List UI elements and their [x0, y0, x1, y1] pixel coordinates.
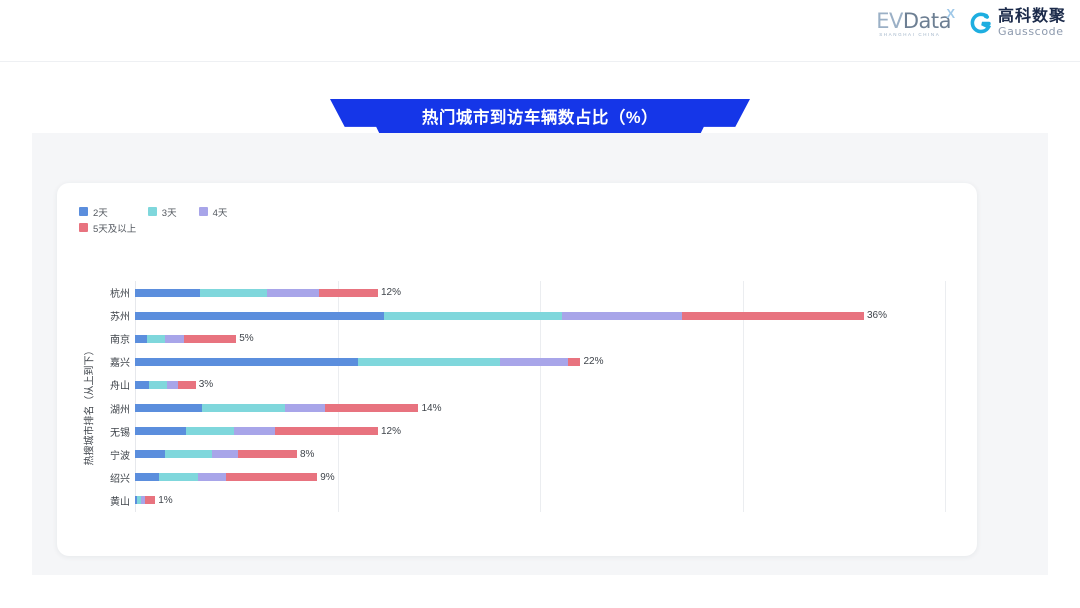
bar-value-label: 22%	[583, 356, 603, 367]
legend-label-2days: 2天	[93, 205, 108, 219]
stacked-bar-黄山[interactable]	[135, 496, 155, 504]
bar-segment-2天[interactable]	[135, 450, 165, 458]
bar-segment-3天[interactable]	[358, 358, 500, 366]
bar-row[interactable]: 22%	[135, 350, 604, 373]
y-axis-tick-labels: 杭州苏州南京嘉兴舟山湖州无锡宁波绍兴黄山	[96, 281, 130, 512]
chart-legend: 2天 3天 4天 5天及以上	[79, 205, 499, 234]
y-axis-label-黄山: 黄山	[110, 489, 130, 512]
legend-row-2: 5天及以上	[79, 221, 499, 234]
stacked-bar-南京[interactable]	[135, 335, 236, 343]
stacked-bar-绍兴[interactable]	[135, 473, 317, 481]
bar-segment-4天[interactable]	[212, 450, 238, 458]
bar-segment-3天[interactable]	[159, 473, 197, 481]
evdata-wordmark-data: Data	[903, 9, 951, 33]
plot-area: 12%36%5%22%3%14%12%8%9%1%	[135, 281, 945, 512]
bar-segment-5天及以上[interactable]	[325, 404, 418, 412]
bar-segment-2天[interactable]	[135, 335, 147, 343]
bar-segment-2天[interactable]	[135, 473, 159, 481]
evdata-subtitle: SHANGHAI CHINA	[876, 32, 951, 37]
bar-value-label: 36%	[867, 310, 887, 321]
legend-item-2days[interactable]: 2天	[79, 205, 108, 219]
stacked-bar-宁波[interactable]	[135, 450, 297, 458]
y-axis-label-苏州: 苏州	[110, 304, 130, 327]
bar-row[interactable]: 12%	[135, 281, 401, 304]
bar-segment-3天[interactable]	[384, 312, 562, 320]
bar-segment-3天[interactable]	[186, 427, 235, 435]
y-axis-label-杭州: 杭州	[110, 281, 130, 304]
legend-item-5days-plus[interactable]: 5天及以上	[79, 221, 136, 235]
bar-value-label: 9%	[320, 472, 334, 483]
bar-value-label: 12%	[381, 426, 401, 437]
evdata-superscript-x: X	[946, 6, 955, 21]
legend-row-1: 2天 3天 4天	[79, 205, 499, 218]
legend-swatch-2days	[79, 207, 88, 216]
bar-segment-2天[interactable]	[135, 358, 358, 366]
y-axis-label-宁波: 宁波	[110, 443, 130, 466]
bar-segment-4天[interactable]	[267, 289, 320, 297]
legend-item-3days[interactable]: 3天	[148, 205, 177, 219]
bar-row[interactable]: 3%	[135, 373, 213, 396]
logo-row: EVData X SHANGHAI CHINA 高科数聚 Gausscode	[876, 9, 1066, 37]
bar-segment-3天[interactable]	[147, 335, 165, 343]
legend-swatch-3days	[148, 207, 157, 216]
bar-row[interactable]: 5%	[135, 327, 254, 350]
y-axis-title-text: 热搜城市排名（从上到下）	[81, 345, 96, 465]
legend-label-5days-plus: 5天及以上	[93, 221, 136, 235]
stacked-bar-舟山[interactable]	[135, 381, 196, 389]
bar-segment-5天及以上[interactable]	[319, 289, 378, 297]
stacked-bar-苏州[interactable]	[135, 312, 864, 320]
bar-row[interactable]: 14%	[135, 397, 441, 420]
y-axis-label-舟山: 舟山	[110, 373, 130, 396]
bar-segment-4天[interactable]	[198, 473, 226, 481]
bar-segment-3天[interactable]	[202, 404, 285, 412]
bar-segment-4天[interactable]	[500, 358, 569, 366]
bar-value-label: 8%	[300, 449, 314, 460]
bar-segment-2天[interactable]	[135, 427, 186, 435]
page-title: 热门城市到访车辆数占比（%）	[422, 104, 658, 128]
bar-segment-2天[interactable]	[135, 404, 202, 412]
bar-segment-3天[interactable]	[149, 381, 167, 389]
y-axis-label-湖州: 湖州	[110, 397, 130, 420]
stacked-bar-嘉兴[interactable]	[135, 358, 580, 366]
bar-value-label: 12%	[381, 287, 401, 298]
bar-segment-2天[interactable]	[135, 312, 384, 320]
bar-row[interactable]: 8%	[135, 443, 314, 466]
gausscode-name-en: Gausscode	[998, 26, 1066, 38]
bar-segment-2天[interactable]	[135, 381, 149, 389]
y-axis-label-南京: 南京	[110, 327, 130, 350]
bar-segment-5天及以上[interactable]	[682, 312, 864, 320]
stacked-bar-杭州[interactable]	[135, 289, 378, 297]
legend-swatch-5days-plus	[79, 223, 88, 232]
gridline-40	[945, 281, 946, 512]
evdata-wordmark-ev: EV	[876, 9, 903, 33]
bar-value-label: 5%	[239, 333, 253, 344]
y-axis-label-绍兴: 绍兴	[110, 466, 130, 489]
bar-segment-4天[interactable]	[165, 335, 183, 343]
legend-label-3days: 3天	[162, 205, 177, 219]
legend-label-4days: 4天	[213, 205, 228, 219]
legend-swatch-4days	[199, 207, 208, 216]
gausscode-logo: 高科数聚 Gausscode	[969, 9, 1066, 37]
bar-segment-4天[interactable]	[285, 404, 326, 412]
bar-segment-5天及以上[interactable]	[238, 450, 297, 458]
stacked-bar-无锡[interactable]	[135, 427, 378, 435]
gausscode-name-cn: 高科数聚	[998, 9, 1066, 26]
bar-row[interactable]: 9%	[135, 466, 335, 489]
evdata-logo: EVData X SHANGHAI CHINA	[876, 9, 953, 37]
bar-segment-5天及以上[interactable]	[184, 335, 237, 343]
y-axis-label-无锡: 无锡	[110, 420, 130, 443]
bar-segment-5天及以上[interactable]	[568, 358, 580, 366]
y-axis-label-嘉兴: 嘉兴	[110, 350, 130, 373]
bar-segment-2天[interactable]	[135, 289, 200, 297]
bar-value-label: 3%	[199, 379, 213, 390]
bar-segment-3天[interactable]	[200, 289, 267, 297]
bar-value-label: 14%	[421, 403, 441, 414]
gausscode-mark-icon	[969, 12, 992, 35]
evdata-wordmark: EVData	[876, 9, 951, 33]
bar-segment-5天及以上[interactable]	[226, 473, 317, 481]
bar-segment-3天[interactable]	[165, 450, 212, 458]
header-divider	[0, 61, 1080, 62]
bar-segment-5天及以上[interactable]	[178, 381, 196, 389]
bar-row[interactable]: 12%	[135, 420, 401, 443]
bar-segment-5天及以上[interactable]	[145, 496, 155, 504]
bar-segment-5天及以上[interactable]	[275, 427, 378, 435]
bar-value-label: 1%	[158, 495, 172, 506]
bar-segment-4天[interactable]	[562, 312, 681, 320]
bar-segment-4天[interactable]	[167, 381, 177, 389]
bar-segment-4天[interactable]	[234, 427, 275, 435]
page-header: EVData X SHANGHAI CHINA 高科数聚 Gausscode	[0, 0, 1080, 62]
bar-row[interactable]: 1%	[135, 489, 173, 512]
y-axis-title: 热搜城市排名（从上到下）	[80, 320, 96, 490]
stacked-bar-湖州[interactable]	[135, 404, 418, 412]
legend-item-4days[interactable]: 4天	[199, 205, 228, 219]
bar-row[interactable]: 36%	[135, 304, 887, 327]
